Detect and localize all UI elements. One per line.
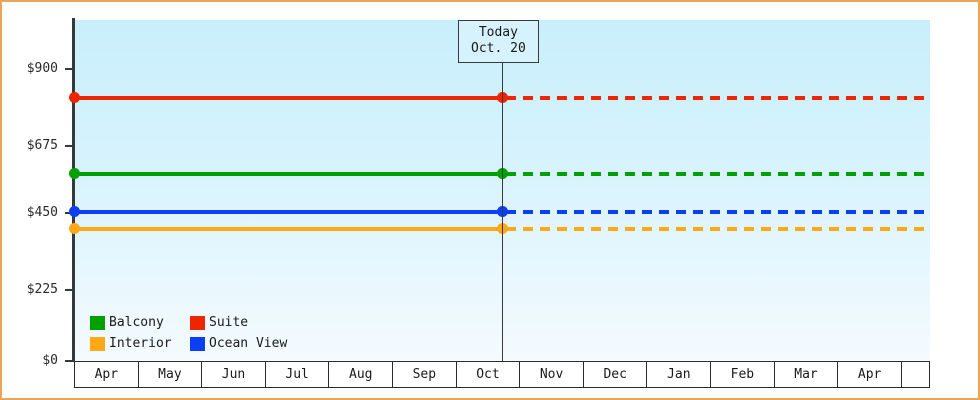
series-line-interior-actual[interactable]	[74, 227, 502, 231]
x-axis-month-jun[interactable]: Jun	[202, 362, 266, 387]
x-axis-month-strip: Apr May Jun Jul Aug Sep Oct Nov Dec Jan …	[74, 361, 930, 388]
today-annotation-box[interactable]: Today Oct. 20	[458, 20, 539, 63]
series-line-balcony-actual[interactable]	[74, 172, 502, 176]
x-axis-month-jul[interactable]: Jul	[266, 362, 330, 387]
legend-item-suite[interactable]: Suite	[190, 316, 287, 330]
legend-label-balcony: Balcony	[109, 316, 164, 330]
series-marker-suite-start[interactable]	[69, 92, 80, 103]
today-vertical-line	[502, 58, 503, 361]
series-marker-balcony-start[interactable]	[69, 168, 80, 179]
series-line-ocean-view-forecast[interactable]	[506, 210, 930, 214]
x-axis-month-dec[interactable]: Dec	[584, 362, 648, 387]
series-line-ocean-view-actual[interactable]	[74, 210, 502, 214]
series-line-interior-forecast[interactable]	[506, 227, 930, 231]
series-line-suite-forecast[interactable]	[506, 96, 930, 100]
y-axis-label-225: $225	[0, 283, 58, 296]
legend-item-interior[interactable]: Interior	[90, 337, 190, 351]
legend-swatch-ocean-view-icon	[190, 337, 205, 351]
price-forecast-chart: $900 $675 $450 $225 $0 Today Oct. 20 Bal…	[0, 0, 980, 400]
y-tick-225	[65, 289, 74, 291]
legend-item-ocean-view[interactable]: Ocean View	[190, 337, 287, 351]
x-axis-month-aug[interactable]: Aug	[329, 362, 393, 387]
legend-label-ocean-view: Ocean View	[209, 337, 287, 351]
y-axis-label-675: $675	[0, 139, 58, 152]
y-axis-label-900: $900	[0, 62, 58, 75]
legend-label-suite: Suite	[209, 316, 248, 330]
legend-swatch-balcony-icon	[90, 316, 105, 330]
series-marker-interior-start[interactable]	[69, 223, 80, 234]
y-tick-675	[65, 145, 74, 147]
y-axis-label-450: $450	[0, 206, 58, 219]
x-axis-month-apr-1[interactable]: Apr	[75, 362, 139, 387]
legend-label-interior: Interior	[109, 337, 172, 351]
legend-swatch-suite-icon	[190, 316, 205, 330]
x-axis-month-mar[interactable]: Mar	[775, 362, 839, 387]
x-axis-month-jan[interactable]: Jan	[647, 362, 711, 387]
x-axis-month-apr-2[interactable]: Apr	[838, 362, 902, 387]
y-tick-900	[65, 68, 74, 70]
y-tick-0	[65, 360, 74, 362]
legend-swatch-interior-icon	[90, 337, 105, 351]
today-annotation-line2: Oct. 20	[471, 41, 526, 57]
today-annotation-line1: Today	[471, 25, 526, 41]
x-axis-month-sep[interactable]: Sep	[393, 362, 457, 387]
y-axis-label-0: $0	[0, 354, 58, 367]
x-axis-month-oct[interactable]: Oct	[457, 362, 521, 387]
series-marker-ocean-view-start[interactable]	[69, 206, 80, 217]
x-axis-month-may[interactable]: May	[139, 362, 203, 387]
series-line-balcony-forecast[interactable]	[506, 172, 930, 176]
x-axis-month-trailing	[902, 362, 930, 387]
series-line-suite-actual[interactable]	[74, 96, 502, 100]
chart-legend: Balcony Suite Interior Ocean View	[90, 312, 287, 354]
legend-item-balcony[interactable]: Balcony	[90, 316, 190, 330]
x-axis-month-feb[interactable]: Feb	[711, 362, 775, 387]
x-axis-month-nov[interactable]: Nov	[520, 362, 584, 387]
